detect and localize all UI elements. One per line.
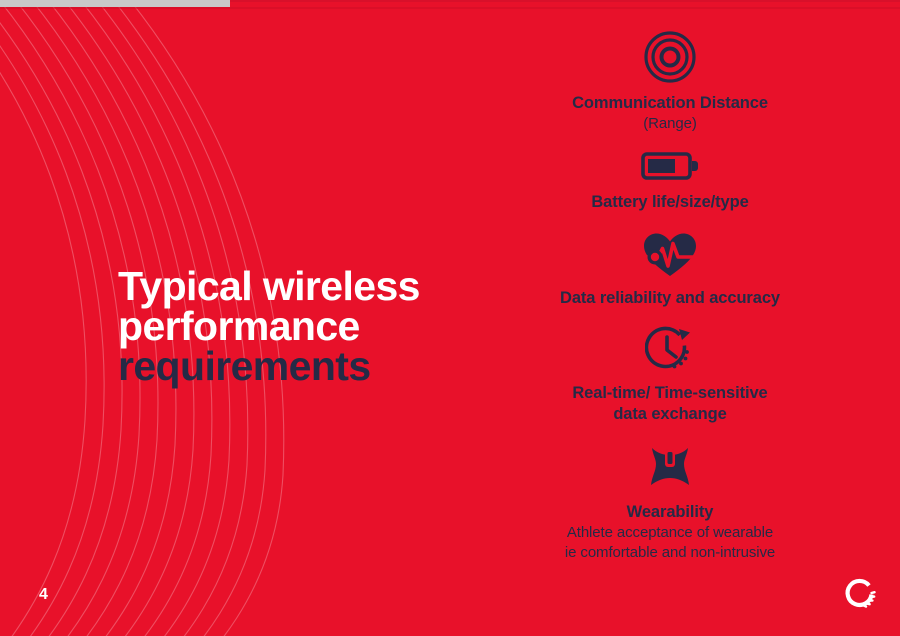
title-line-1: Typical wireless <box>118 266 498 306</box>
heart-pulse-icon <box>642 231 698 279</box>
requirement-sublabel-line-2: ie comfortable and non-intrusive <box>565 543 775 563</box>
page-title: Typical wireless performance requirement… <box>118 266 498 387</box>
title-line-3: requirements <box>118 346 498 386</box>
requirement-item-data-reliability: Data reliability and accuracy <box>470 231 870 309</box>
requirements-list: Communication Distance (Range) Battery l… <box>470 30 870 562</box>
top-accent-strip-left <box>0 0 230 7</box>
chest-strap-icon <box>644 445 696 493</box>
requirement-item-wearability: Wearability Athlete acceptance of wearab… <box>470 445 870 563</box>
concentric-circles-icon <box>643 30 697 84</box>
requirement-label: Wearability <box>627 502 714 523</box>
requirement-sublabel: (Range) <box>643 114 697 134</box>
title-line-2: performance <box>118 306 498 346</box>
requirement-label: Data reliability and accuracy <box>560 288 780 309</box>
requirement-label-line-1: Real-time/ Time-sensitive <box>572 383 767 404</box>
requirement-item-real-time: Real-time/ Time-sensitive data exchange <box>470 326 870 424</box>
requirement-label: Battery life/size/type <box>591 192 748 213</box>
requirement-sublabel-line-1: Athlete acceptance of wearable <box>567 523 773 543</box>
clock-arrow-icon <box>645 326 695 374</box>
requirement-label: Communication Distance <box>572 93 768 114</box>
battery-icon <box>641 149 699 183</box>
top-hairline <box>0 7 900 9</box>
requirement-label-line-2: data exchange <box>613 404 726 425</box>
slide: Typical wireless performance requirement… <box>0 0 900 636</box>
page-number: 4 <box>39 586 48 604</box>
requirement-item-battery: Battery life/size/type <box>470 149 870 213</box>
requirement-item-communication-distance: Communication Distance (Range) <box>470 30 870 133</box>
brand-logo <box>844 578 878 612</box>
top-accent-strip-right <box>230 0 900 2</box>
